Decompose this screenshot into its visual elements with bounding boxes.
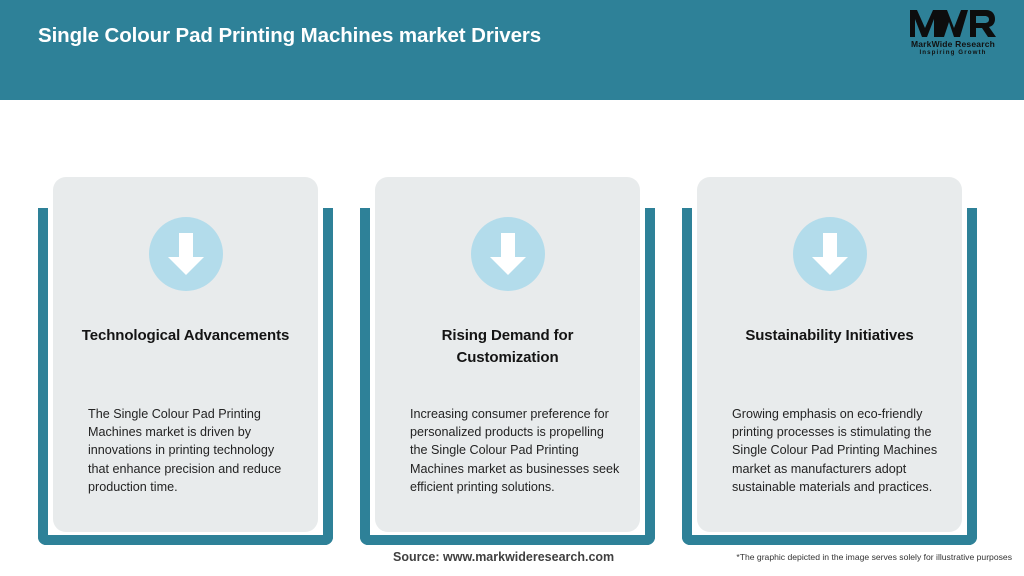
- logo-tagline: Inspiring Growth: [898, 49, 1008, 57]
- card-body-text: The Single Colour Pad Printing Machines …: [88, 405, 298, 496]
- arrow-down-icon: [149, 217, 223, 291]
- driver-card-1: Technological Advancements The Single Co…: [30, 100, 341, 546]
- footer-source: Source: www.markwideresearch.com: [393, 550, 614, 564]
- footer-disclaimer: *The graphic depicted in the image serve…: [736, 552, 1012, 562]
- driver-card-3: Sustainability Initiatives Growing empha…: [674, 100, 985, 546]
- card-title: Sustainability Initiatives: [711, 325, 948, 347]
- arrow-down-glyph: [166, 231, 206, 277]
- mwr-logo-icon: [910, 8, 996, 38]
- arrow-down-glyph: [488, 231, 528, 277]
- page-title: Single Colour Pad Printing Machines mark…: [38, 24, 541, 48]
- arrow-down-icon: [793, 217, 867, 291]
- card-panel: Sustainability Initiatives Growing empha…: [697, 177, 962, 532]
- card-panel: Technological Advancements The Single Co…: [53, 177, 318, 532]
- card-body-text: Growing emphasis on eco-friendly printin…: [732, 405, 942, 496]
- card-panel: Rising Demand for Customization Increasi…: [375, 177, 640, 532]
- card-body-text: Increasing consumer preference for perso…: [410, 405, 620, 496]
- arrow-down-icon: [471, 217, 545, 291]
- card-title: Technological Advancements: [67, 325, 304, 347]
- card-title: Rising Demand for Customization: [389, 325, 626, 369]
- drivers-card-group: Technological Advancements The Single Co…: [0, 100, 1024, 546]
- arrow-down-glyph: [810, 231, 850, 277]
- driver-card-2: Rising Demand for Customization Increasi…: [352, 100, 663, 546]
- logo-company-name: MarkWide Research: [898, 39, 1008, 49]
- page-header: Single Colour Pad Printing Machines mark…: [0, 0, 1024, 100]
- brand-logo: MarkWide Research Inspiring Growth: [898, 8, 1008, 64]
